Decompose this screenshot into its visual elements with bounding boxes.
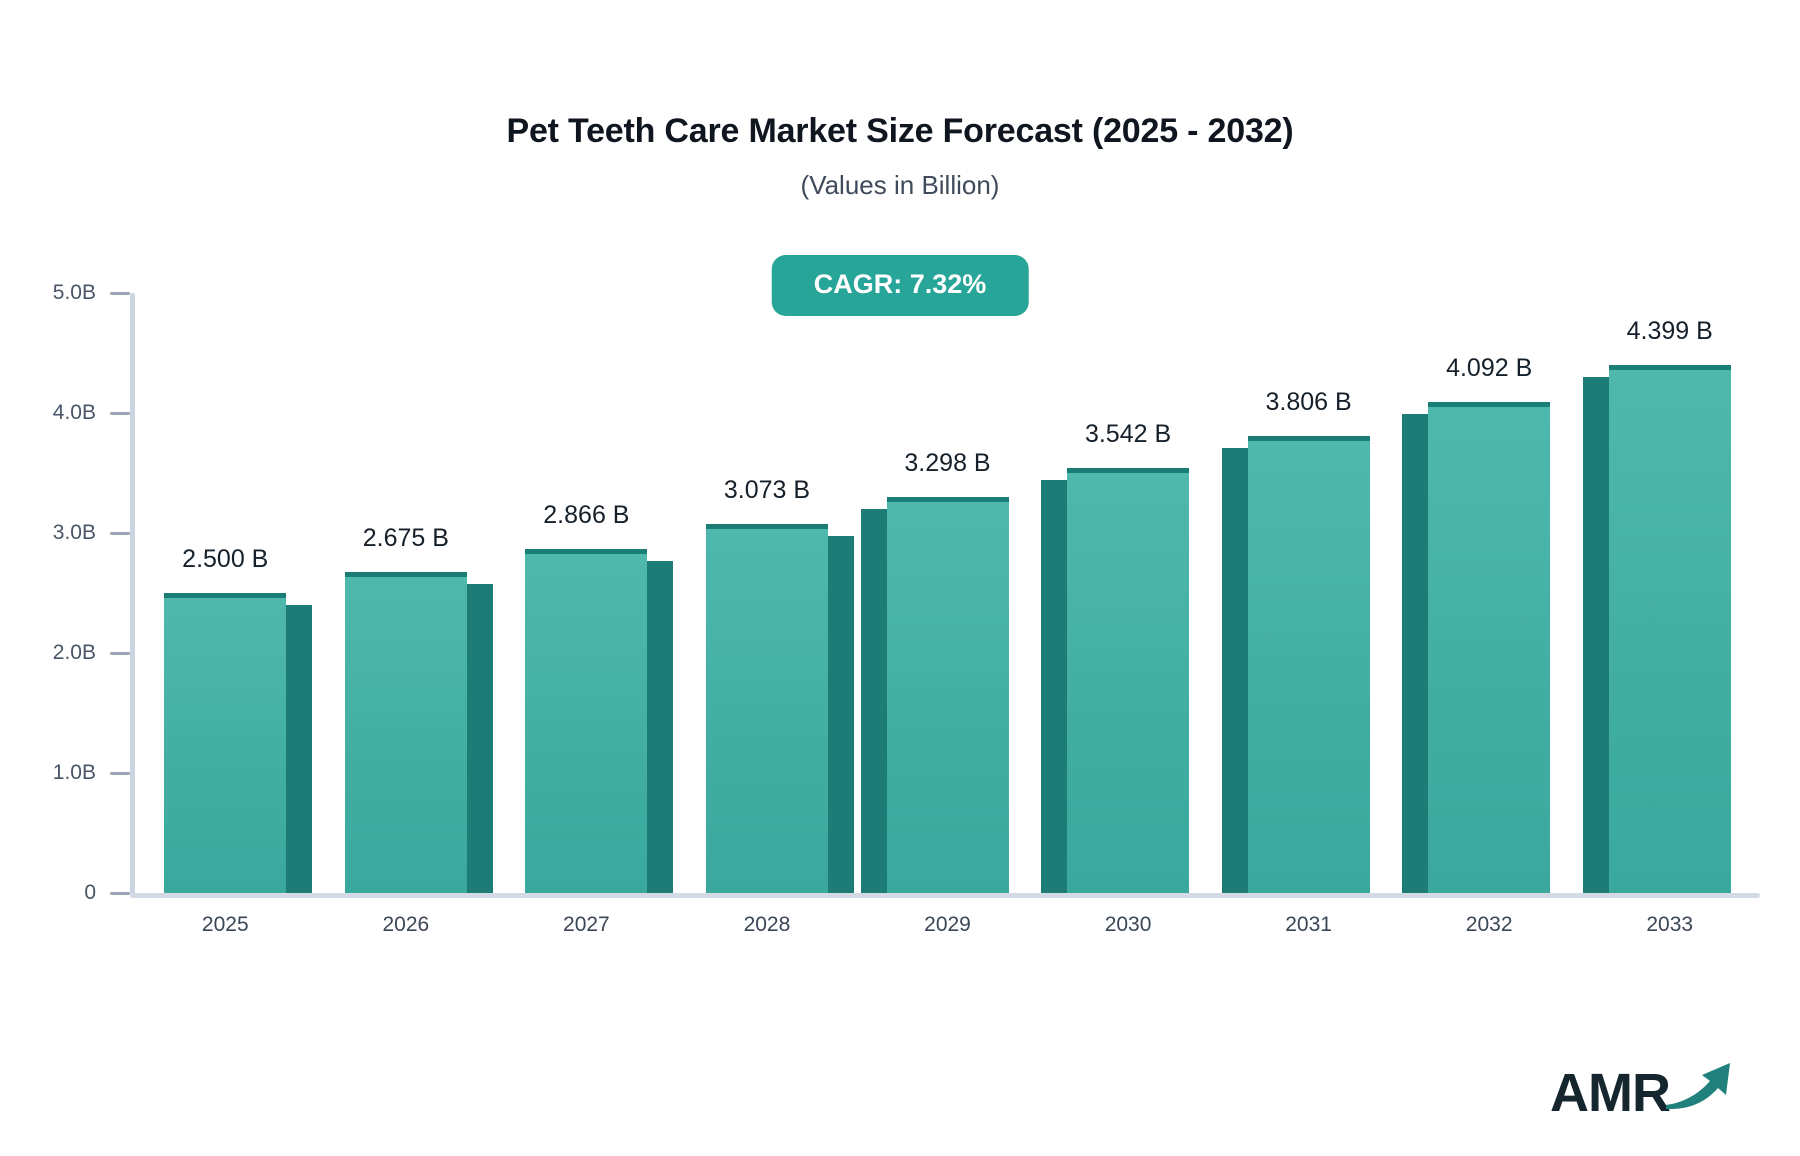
bar-value-label: 2.675 B <box>363 524 449 553</box>
bar-front-face <box>1609 365 1731 893</box>
bar-column[interactable]: 2.500 B2025 <box>164 285 286 895</box>
bar-top-edge <box>706 524 828 529</box>
page-title: Pet Teeth Care Market Size Forecast (202… <box>0 112 1800 151</box>
bar-column[interactable]: 3.542 B2030 <box>1067 285 1189 895</box>
bar-side-face <box>828 536 854 893</box>
plot-area: 01.0B2.0B3.0B4.0B5.0B 2.500 B20252.675 B… <box>130 285 1770 910</box>
bar-column[interactable]: 4.399 B2033 <box>1609 285 1731 895</box>
y-axis-tick-mark <box>110 412 130 415</box>
x-axis-tick-label: 2025 <box>202 913 249 937</box>
bar-top-edge <box>1067 468 1189 473</box>
y-axis-tick-mark <box>110 892 130 895</box>
bar-value-label: 3.806 B <box>1266 388 1352 417</box>
y-axis-tick: 1.0B <box>18 761 130 785</box>
chart-canvas: Pet Teeth Care Market Size Forecast (202… <box>0 0 1800 1156</box>
bar-column[interactable]: 2.866 B2027 <box>525 285 647 895</box>
y-axis-tick: 0 <box>18 881 130 905</box>
y-axis-tick: 5.0B <box>18 281 130 305</box>
bar-side-face <box>1583 377 1609 893</box>
bar-series: 2.500 B20252.675 B20262.866 B20273.073 B… <box>135 285 1760 895</box>
y-axis-tick-mark <box>110 532 130 535</box>
x-axis-tick-label: 2031 <box>1285 913 1332 937</box>
y-axis-tick-mark <box>110 292 130 295</box>
bar-shape <box>1428 402 1550 893</box>
bar-column[interactable]: 3.298 B2029 <box>887 285 1009 895</box>
bar-column[interactable]: 4.092 B2032 <box>1428 285 1550 895</box>
x-axis-tick-label: 2029 <box>924 913 971 937</box>
amr-logo-text: AMR <box>1550 1066 1670 1120</box>
bar-side-face <box>1222 448 1248 893</box>
bar-side-face <box>467 584 493 893</box>
bar-side-face <box>1402 414 1428 893</box>
bar-front-face <box>1067 468 1189 893</box>
y-axis-tick-mark <box>110 772 130 775</box>
bar-side-face <box>647 561 673 893</box>
bar-top-edge <box>1428 402 1550 407</box>
bar-side-face <box>286 605 312 893</box>
bar-top-edge <box>525 549 647 554</box>
bar-column[interactable]: 3.073 B2028 <box>706 285 828 895</box>
bar-top-edge <box>887 497 1009 502</box>
x-axis-tick-label: 2033 <box>1646 913 1693 937</box>
bar-front-face <box>345 572 467 893</box>
x-axis-tick-label: 2026 <box>382 913 429 937</box>
bar-column[interactable]: 3.806 B2031 <box>1248 285 1370 895</box>
bar-value-label: 4.092 B <box>1446 354 1532 383</box>
bar-front-face <box>525 549 647 893</box>
bar-top-edge <box>1248 436 1370 441</box>
bar-value-label: 4.399 B <box>1627 317 1713 346</box>
y-axis-tick-label: 2.0B <box>18 641 96 665</box>
bar-column[interactable]: 2.675 B2026 <box>345 285 467 895</box>
chart-subtitle: (Values in Billion) <box>0 170 1800 201</box>
y-axis-tick-label: 3.0B <box>18 521 96 545</box>
bar-front-face <box>164 593 286 893</box>
bar-shape <box>887 497 1009 893</box>
x-axis-tick-label: 2032 <box>1466 913 1513 937</box>
y-axis-tick-label: 0 <box>18 881 96 905</box>
y-axis-tick: 3.0B <box>18 521 130 545</box>
amr-logo: AMR <box>1550 1055 1738 1120</box>
y-axis-tick: 2.0B <box>18 641 130 665</box>
bar-shape <box>345 572 467 893</box>
bar-front-face <box>1428 402 1550 893</box>
x-axis-tick-label: 2027 <box>563 913 610 937</box>
trending-up-arrow-icon <box>1664 1055 1738 1116</box>
bar-value-label: 3.298 B <box>904 449 990 478</box>
y-axis-tick-label: 1.0B <box>18 761 96 785</box>
y-axis-tick-label: 5.0B <box>18 281 96 305</box>
bar-top-edge <box>164 593 286 598</box>
x-axis-tick-label: 2028 <box>744 913 791 937</box>
bar-top-edge <box>1609 365 1731 370</box>
bar-shape <box>1609 365 1731 893</box>
bar-front-face <box>1248 436 1370 893</box>
x-axis-tick-label: 2030 <box>1105 913 1152 937</box>
bar-value-label: 3.542 B <box>1085 420 1171 449</box>
y-axis-tick-mark <box>110 652 130 655</box>
y-axis-tick: 4.0B <box>18 401 130 425</box>
bar-value-label: 2.866 B <box>543 501 629 530</box>
bar-shape <box>1067 468 1189 893</box>
bar-shape <box>1248 436 1370 893</box>
bar-front-face <box>887 497 1009 893</box>
bar-side-face <box>1041 480 1067 893</box>
bar-shape <box>706 524 828 893</box>
bar-shape <box>164 593 286 893</box>
bar-value-label: 2.500 B <box>182 545 268 574</box>
bar-front-face <box>706 524 828 893</box>
bar-shape <box>525 549 647 893</box>
bar-side-face <box>861 509 887 893</box>
bar-top-edge <box>345 572 467 577</box>
bar-value-label: 3.073 B <box>724 476 810 505</box>
y-axis-tick-label: 4.0B <box>18 401 96 425</box>
